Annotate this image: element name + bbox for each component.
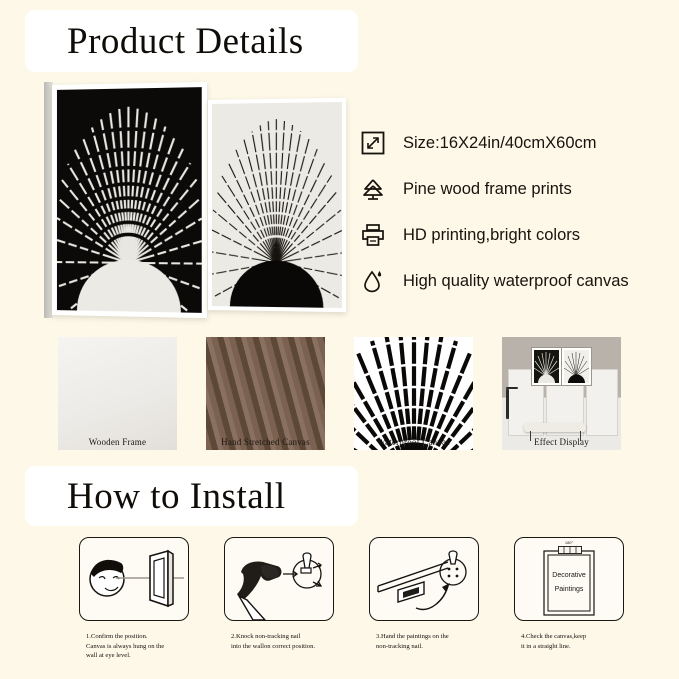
canvas-artwork-light	[212, 102, 342, 308]
feature-label-size: Size:16X24in/40cmX60cm	[403, 134, 597, 153]
dark-sunburst-canvas	[44, 82, 204, 318]
bench	[524, 423, 586, 432]
step-illustration-box	[79, 537, 189, 621]
wooden-frame-image	[58, 337, 177, 450]
framed-print-dark	[532, 348, 561, 385]
framed-print-light	[562, 348, 591, 385]
how-to-install-banner: How to Install	[25, 466, 358, 526]
canvas-face	[52, 82, 207, 318]
product-details-banner: Product Details	[25, 10, 358, 72]
install-step-hang-painting: 3.Hand the paintings on thenon-tracking …	[362, 537, 486, 651]
hang-frame-icon	[370, 538, 478, 620]
install-steps: 1.Confirm the position.Canvas is always …	[60, 537, 630, 667]
page-title: Product Details	[67, 20, 304, 63]
canvas-face	[208, 98, 346, 312]
sunburst-art-light	[212, 102, 342, 308]
thumbnail-caption-hand-stretched-canvas: Hand Stretched Canvas	[206, 437, 325, 447]
thumbnail-strip: Wooden Frame	[58, 337, 621, 450]
thumbnail-waterproof-canvas: Waterproof Canvas	[354, 337, 473, 450]
feature-item-size: Size:16X24in/40cmX60cm	[358, 120, 674, 166]
thumbnail-caption-waterproof-canvas: Waterproof Canvas	[354, 437, 473, 447]
feature-label-pine-wood: Pine wood frame prints	[403, 180, 572, 199]
step-illustration-box	[369, 537, 479, 621]
head-eye-level-icon	[80, 538, 188, 620]
step-illustration-box: 180° Decorative Paintings	[514, 537, 624, 621]
feature-item-pine-wood: Pine wood frame prints	[358, 166, 674, 212]
step-caption-knock-nail: 2.Knock non-tracking nailinto the wallon…	[217, 632, 341, 651]
canvas-artwork-dark	[57, 87, 202, 313]
thumbnail-effect-display: Effect Display	[502, 337, 621, 450]
feature-label-waterproof: High quality waterproof canvas	[403, 272, 629, 291]
waterproof-canvas-image	[354, 337, 473, 450]
install-title: How to Install	[67, 475, 286, 518]
water-drop-icon	[358, 266, 388, 296]
install-step-knock-nail: 2.Knock non-tracking nailinto the wallon…	[217, 537, 341, 651]
step-caption-check-straight: 4.Check the canvas,keepit in a straight …	[507, 632, 631, 651]
step-caption-confirm-position: 1.Confirm the position.Canvas is always …	[72, 632, 196, 661]
step-caption-hang-painting: 3.Hand the paintings on thenon-tracking …	[362, 632, 486, 651]
product-infographic: Product Details	[0, 0, 679, 679]
frame-text-line1: Decorative	[515, 572, 623, 579]
light-sunburst-canvas	[204, 100, 344, 312]
hand-stretched-canvas-image	[206, 337, 325, 450]
level-degrees-label: 180°	[515, 540, 623, 545]
install-step-check-straight: 180° Decorative Paintings 4.Check the ca…	[507, 537, 631, 651]
thumbnail-wooden-frame: Wooden Frame	[58, 337, 177, 450]
install-step-confirm-position: 1.Confirm the position.Canvas is always …	[72, 537, 196, 661]
feature-label-hd-printing: HD printing,bright colors	[403, 226, 580, 245]
feature-list: Size:16X24in/40cmX60cm Pine wood frame p…	[358, 120, 674, 304]
level-gauge	[558, 546, 582, 554]
effect-display-image	[502, 337, 621, 450]
step-illustration-box	[224, 537, 334, 621]
thumbnail-caption-effect-display: Effect Display	[502, 437, 621, 447]
feature-item-hd-printing: HD printing,bright colors	[358, 212, 674, 258]
feature-item-waterproof: High quality waterproof canvas	[358, 258, 674, 304]
frame-text-line2: Paintings	[515, 586, 623, 593]
sunburst-art-dark	[57, 87, 202, 313]
hero-product-image	[36, 78, 336, 328]
thumbnail-caption-wooden-frame: Wooden Frame	[58, 437, 177, 447]
hammer-nail-icon	[225, 538, 333, 620]
thumbnail-hand-stretched-canvas: Hand Stretched Canvas	[206, 337, 325, 450]
pine-tree-icon	[358, 174, 388, 204]
resize-arrows-icon	[358, 128, 388, 158]
printer-icon	[358, 220, 388, 250]
